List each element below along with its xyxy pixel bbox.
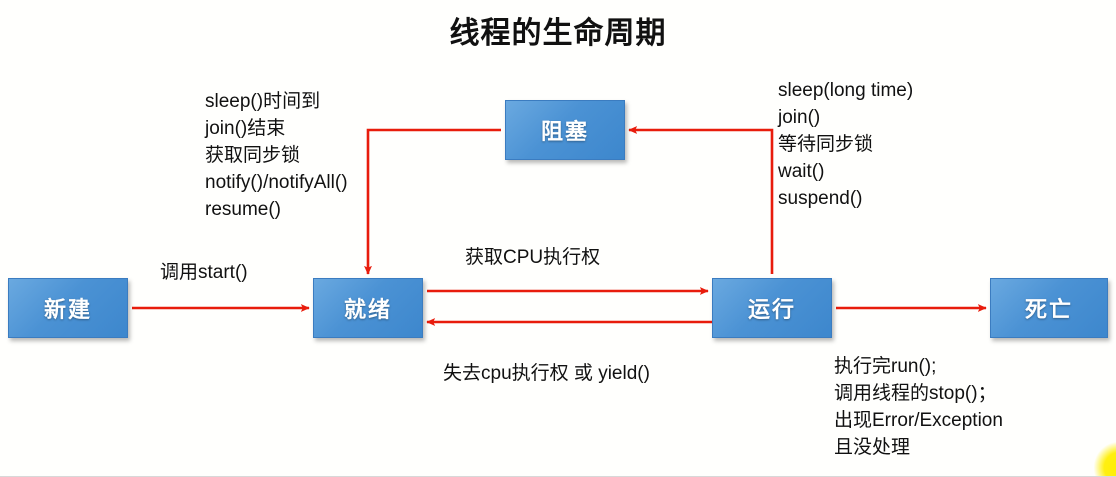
note-running-to-dead: 执行完run(); 调用线程的stop()； 出现Error/Exception… (834, 353, 1003, 461)
corner-highlight-mark (1094, 442, 1116, 476)
edge-label-runnable-to-running: 获取CPU执行权 (465, 242, 600, 269)
note-running-to-blocked: sleep(long time) join() 等待同步锁 wait() sus… (778, 77, 913, 212)
state-box-dead[interactable]: 死亡 (990, 278, 1108, 338)
state-box-label: 新建 (44, 292, 92, 324)
edge-label-new-to-runnable: 调用start() (160, 257, 248, 284)
state-box-label: 死亡 (1025, 292, 1073, 324)
state-box-runnable[interactable]: 就绪 (313, 278, 423, 338)
arrow-running-to-blocked (629, 130, 772, 274)
state-box-label: 运行 (748, 292, 796, 324)
state-box-label: 就绪 (344, 292, 392, 324)
note-blocked-to-runnable: sleep()时间到 join()结束 获取同步锁 notify()/notif… (205, 88, 348, 223)
state-box-new[interactable]: 新建 (8, 278, 128, 338)
state-box-label: 阻塞 (541, 114, 589, 146)
edge-label-running-to-runnable: 失去cpu执行权 或 yield() (443, 358, 650, 385)
diagram-canvas: 线程的生命周期 新建就绪运行死亡阻塞 sleep()时间到 join()结束 获… (0, 0, 1116, 477)
state-box-running[interactable]: 运行 (712, 278, 832, 338)
state-box-blocked[interactable]: 阻塞 (505, 100, 625, 160)
